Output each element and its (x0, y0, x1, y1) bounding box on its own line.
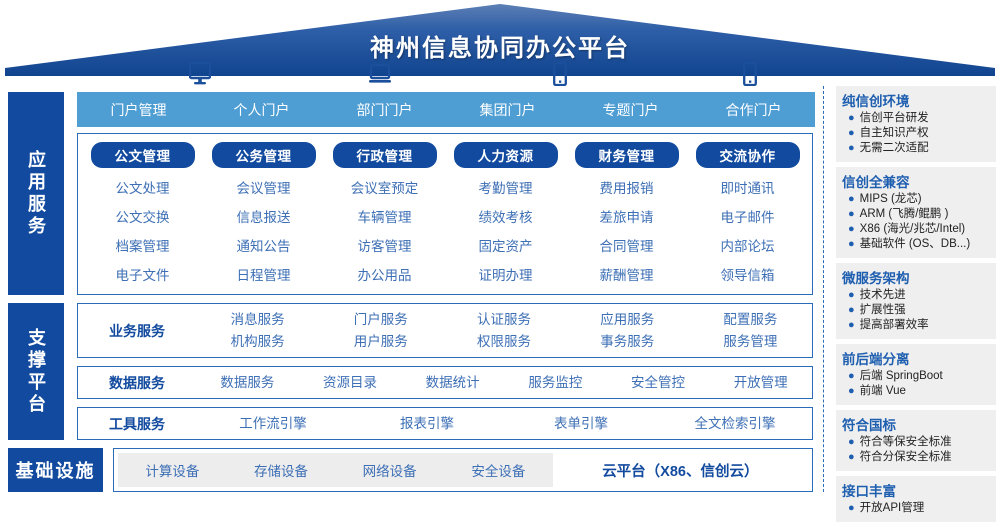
feature-list-item: ●后端 SpringBoot (842, 369, 990, 384)
feature-card-title: 纯信创环境 (842, 90, 990, 110)
business-services-panel: 业务服务 消息服务 门户服务 认证服务 应用服务 配置服务 机构服务 用户服务 … (77, 303, 813, 358)
business-services-label: 业务服务 (78, 321, 196, 341)
application-module-row: 档案管理 通知公告 访客管理 固定资产 合同管理 内部论坛 (82, 235, 808, 255)
feature-list-item: ●无需二次适配 (842, 141, 990, 156)
business-services-row: 机构服务 用户服务 权限服务 事务服务 服务管理 (196, 331, 812, 353)
page-title: 神州信息协同办公平台 (0, 28, 1000, 63)
feature-list-item-label: 无需二次适配 (860, 141, 929, 156)
business-service-item[interactable]: 用户服务 (319, 331, 442, 353)
infrastructure-item[interactable]: 存储设备 (227, 460, 336, 480)
application-category-label: 人力资源 (454, 142, 558, 168)
feature-list-item: ●符合等保安全标准 (842, 435, 990, 450)
feature-list-item: ●提高部署效率 (842, 318, 990, 333)
business-service-item[interactable]: 机构服务 (196, 331, 319, 353)
infrastructure-item[interactable]: 计算设备 (118, 460, 227, 480)
tool-service-item[interactable]: 工作流引擎 (196, 413, 350, 435)
infrastructure-item[interactable]: 网络设备 (335, 460, 444, 480)
bullet-icon: ● (848, 318, 855, 333)
application-module[interactable]: 薪酬管理 (566, 264, 687, 284)
feature-list-item-label: 后端 SpringBoot (860, 369, 943, 384)
feature-list-item-label: 开放API管理 (860, 501, 925, 516)
data-service-item[interactable]: 数据统计 (401, 372, 504, 394)
business-services-row: 消息服务 门户服务 认证服务 应用服务 配置服务 (196, 309, 812, 331)
application-module[interactable]: 访客管理 (324, 235, 445, 255)
bullet-icon: ● (848, 369, 855, 384)
application-module[interactable]: 绩效考核 (445, 206, 566, 226)
data-services-row: 数据服务 资源目录 数据统计 服务监控 安全管控 开放管理 (196, 372, 812, 394)
feature-card: 符合国标 ●符合等保安全标准 ●符合分保安全标准 (836, 410, 996, 471)
bullet-icon: ● (848, 288, 855, 303)
application-module[interactable]: 日程管理 (203, 264, 324, 284)
business-service-item[interactable]: 应用服务 (566, 309, 689, 331)
portal-item[interactable]: 个人门户 (200, 100, 323, 120)
bullet-icon: ● (848, 141, 855, 156)
feature-list-item: ●X86 (海光/兆芯/Intel) (842, 222, 990, 237)
application-module-row: 公文处理 会议管理 会议室预定 考勤管理 费用报销 即时通讯 (82, 177, 808, 197)
feature-list-item-label: 前端 Vue (860, 384, 906, 399)
feature-list-item: ●技术先进 (842, 288, 990, 303)
feature-list-item: ●前端 Vue (842, 384, 990, 399)
feature-list-item: ●开放API管理 (842, 501, 990, 516)
feature-card: 纯信创环境 ●信创平台研发 ●自主知识产权 ●无需二次适配 (836, 86, 996, 162)
bullet-icon: ● (848, 450, 855, 465)
application-category-label: 公文管理 (91, 142, 195, 168)
application-module[interactable]: 会议室预定 (324, 177, 445, 197)
feature-list-item: ●自主知识产权 (842, 126, 990, 141)
application-module[interactable]: 电子邮件 (687, 206, 808, 226)
bullet-icon: ● (848, 435, 855, 450)
application-module[interactable]: 公文交换 (82, 206, 203, 226)
bullet-icon: ● (848, 222, 855, 237)
feature-card-title: 接口丰富 (842, 480, 990, 500)
application-module[interactable]: 证明办理 (445, 264, 566, 284)
business-service-item[interactable]: 认证服务 (442, 309, 565, 331)
tool-service-item[interactable]: 表单引擎 (504, 413, 658, 435)
feature-list-item-label: 符合分保安全标准 (860, 450, 952, 465)
phone-icon (730, 62, 770, 86)
application-module[interactable]: 车辆管理 (324, 206, 445, 226)
application-module[interactable]: 差旅申请 (566, 206, 687, 226)
application-module-row: 电子文件 日程管理 办公用品 证明办理 薪酬管理 领导信箱 (82, 264, 808, 284)
feature-list-item-label: 扩展性强 (860, 303, 906, 318)
application-category[interactable]: 公文管理 (82, 142, 203, 168)
business-service-item[interactable]: 消息服务 (196, 309, 319, 331)
data-service-item[interactable]: 安全管控 (607, 372, 710, 394)
data-service-item[interactable]: 资源目录 (299, 372, 402, 394)
feature-list-item-label: 符合等保安全标准 (860, 435, 952, 450)
application-module[interactable]: 会议管理 (203, 177, 324, 197)
application-category[interactable]: 行政管理 (324, 142, 445, 168)
portal-item[interactable]: 合作门户 (692, 100, 815, 120)
application-module-grid: 公文处理 会议管理 会议室预定 考勤管理 费用报销 即时通讯 公文交换 信息报送… (78, 177, 812, 284)
application-module[interactable]: 办公用品 (324, 264, 445, 284)
application-category[interactable]: 财务管理 (566, 142, 687, 168)
feature-list-item-label: X86 (海光/兆芯/Intel) (860, 222, 965, 237)
feature-list-item: ●基础软件 (OS、DB...) (842, 237, 990, 252)
application-category[interactable]: 人力资源 (445, 142, 566, 168)
bullet-icon: ● (848, 237, 855, 252)
feature-list-item-label: 自主知识产权 (860, 126, 929, 141)
data-services-label: 数据服务 (78, 373, 196, 393)
feature-card: 信创全兼容 ●MIPS (龙芯) ●ARM (飞腾/鲲鹏 ) ●X86 (海光/… (836, 167, 996, 258)
infrastructure-device-group: 计算设备 存储设备 网络设备 安全设备 (118, 453, 553, 487)
application-module[interactable]: 信息报送 (203, 206, 324, 226)
business-service-item[interactable]: 事务服务 (566, 331, 689, 353)
bullet-icon: ● (848, 384, 855, 399)
application-module[interactable]: 合同管理 (566, 235, 687, 255)
tool-service-item[interactable]: 全文检索引擎 (658, 413, 812, 435)
bullet-icon: ● (848, 207, 855, 222)
feature-list-item-label: 基础软件 (OS、DB...) (860, 237, 971, 252)
application-module[interactable]: 固定资产 (445, 235, 566, 255)
bullet-icon: ● (848, 111, 855, 126)
feature-list-item-label: 提高部署效率 (860, 318, 929, 333)
business-service-item[interactable]: 权限服务 (442, 331, 565, 353)
feature-list-item: ●信创平台研发 (842, 111, 990, 126)
feature-card-title: 符合国标 (842, 414, 990, 434)
bullet-icon: ● (848, 126, 855, 141)
application-module[interactable]: 公文处理 (82, 177, 203, 197)
bullet-icon: ● (848, 192, 855, 207)
feature-card: 前后端分离 ●后端 SpringBoot ●前端 Vue (836, 344, 996, 405)
feature-card-title: 信创全兼容 (842, 171, 990, 191)
business-services-items: 消息服务 门户服务 认证服务 应用服务 配置服务 机构服务 用户服务 权限服务 … (196, 309, 812, 353)
feature-card: 微服务架构 ●技术先进 ●扩展性强 ●提高部署效率 (836, 263, 996, 339)
application-category-row: 公文管理 公务管理 行政管理 人力资源 财务管理 交流协作 (78, 134, 812, 168)
desktop-icon (180, 62, 220, 86)
feature-card: 接口丰富 ●开放API管理 (836, 476, 996, 522)
feature-card-title: 微服务架构 (842, 267, 990, 287)
tool-services-panel: 工具服务 工作流引擎 报表引擎 表单引擎 全文检索引擎 (77, 407, 813, 440)
data-service-item[interactable]: 开放管理 (709, 372, 812, 394)
application-services-panel: 公文管理 公务管理 行政管理 人力资源 财务管理 交流协作 公文处理 会议管理 … (77, 133, 813, 295)
application-module[interactable]: 电子文件 (82, 264, 203, 284)
feature-card-title: 前后端分离 (842, 348, 990, 368)
application-module[interactable]: 档案管理 (82, 235, 203, 255)
feature-list-item-label: MIPS (龙芯) (860, 192, 922, 207)
tool-services-row: 工作流引擎 报表引擎 表单引擎 全文检索引擎 (196, 413, 812, 435)
business-service-item[interactable]: 门户服务 (319, 309, 442, 331)
phone-icon (540, 62, 580, 86)
application-module[interactable]: 内部论坛 (687, 235, 808, 255)
cloud-platform-item[interactable]: 云平台（X86、信创云） (553, 460, 808, 481)
portal-item[interactable]: 集团门户 (446, 100, 569, 120)
rail-support-platform: 支撑平台 (8, 303, 64, 440)
application-module[interactable]: 即时通讯 (687, 177, 808, 197)
application-category-label: 财务管理 (575, 142, 679, 168)
rail-application-services: 应用服务 (8, 92, 64, 295)
data-services-panel: 数据服务 数据服务 资源目录 数据统计 服务监控 安全管控 开放管理 (77, 366, 813, 399)
business-service-item[interactable]: 服务管理 (689, 331, 812, 353)
application-module[interactable]: 通知公告 (203, 235, 324, 255)
data-service-item[interactable]: 数据服务 (196, 372, 299, 394)
laptop-icon (360, 62, 400, 86)
feature-list-item-label: 技术先进 (860, 288, 906, 303)
feature-list-item: ●扩展性强 (842, 303, 990, 318)
feature-list-item: ●ARM (飞腾/鲲鹏 ) (842, 207, 990, 222)
tool-services-label: 工具服务 (78, 414, 196, 434)
rail-infrastructure: 基础设施 (8, 448, 103, 492)
application-category[interactable]: 交流协作 (687, 142, 808, 168)
application-category-label: 交流协作 (696, 142, 800, 168)
portal-item[interactable]: 部门门户 (323, 100, 446, 120)
feature-list-item-label: 信创平台研发 (860, 111, 929, 126)
application-module[interactable]: 考勤管理 (445, 177, 566, 197)
application-category-label: 公务管理 (212, 142, 316, 168)
application-module[interactable]: 领导信箱 (687, 264, 808, 284)
feature-list-item: ●符合分保安全标准 (842, 450, 990, 465)
infrastructure-item[interactable]: 安全设备 (444, 460, 553, 480)
section-divider (823, 86, 824, 492)
application-category-label: 行政管理 (333, 142, 437, 168)
data-services-items: 数据服务 资源目录 数据统计 服务监控 安全管控 开放管理 (196, 372, 812, 394)
portal-bar: 门户管理 个人门户 部门门户 集团门户 专题门户 合作门户 (77, 92, 815, 127)
infrastructure-panel: 计算设备 存储设备 网络设备 安全设备 云平台（X86、信创云） (113, 448, 813, 492)
bullet-icon: ● (848, 501, 855, 516)
tool-services-items: 工作流引擎 报表引擎 表单引擎 全文检索引擎 (196, 413, 812, 435)
application-category[interactable]: 公务管理 (203, 142, 324, 168)
data-service-item[interactable]: 服务监控 (504, 372, 607, 394)
business-service-item[interactable]: 配置服务 (689, 309, 812, 331)
device-icon-row (75, 62, 815, 90)
application-module[interactable]: 费用报销 (566, 177, 687, 197)
bullet-icon: ● (848, 303, 855, 318)
feature-list-item-label: ARM (飞腾/鲲鹏 ) (860, 207, 949, 222)
feature-list-item: ●MIPS (龙芯) (842, 192, 990, 207)
feature-sidebar: 纯信创环境 ●信创平台研发 ●自主知识产权 ●无需二次适配 信创全兼容 ●MIP… (836, 86, 996, 527)
portal-item[interactable]: 门户管理 (77, 100, 200, 120)
portal-item[interactable]: 专题门户 (569, 100, 692, 120)
application-module-row: 公文交换 信息报送 车辆管理 绩效考核 差旅申请 电子邮件 (82, 206, 808, 226)
tool-service-item[interactable]: 报表引擎 (350, 413, 504, 435)
